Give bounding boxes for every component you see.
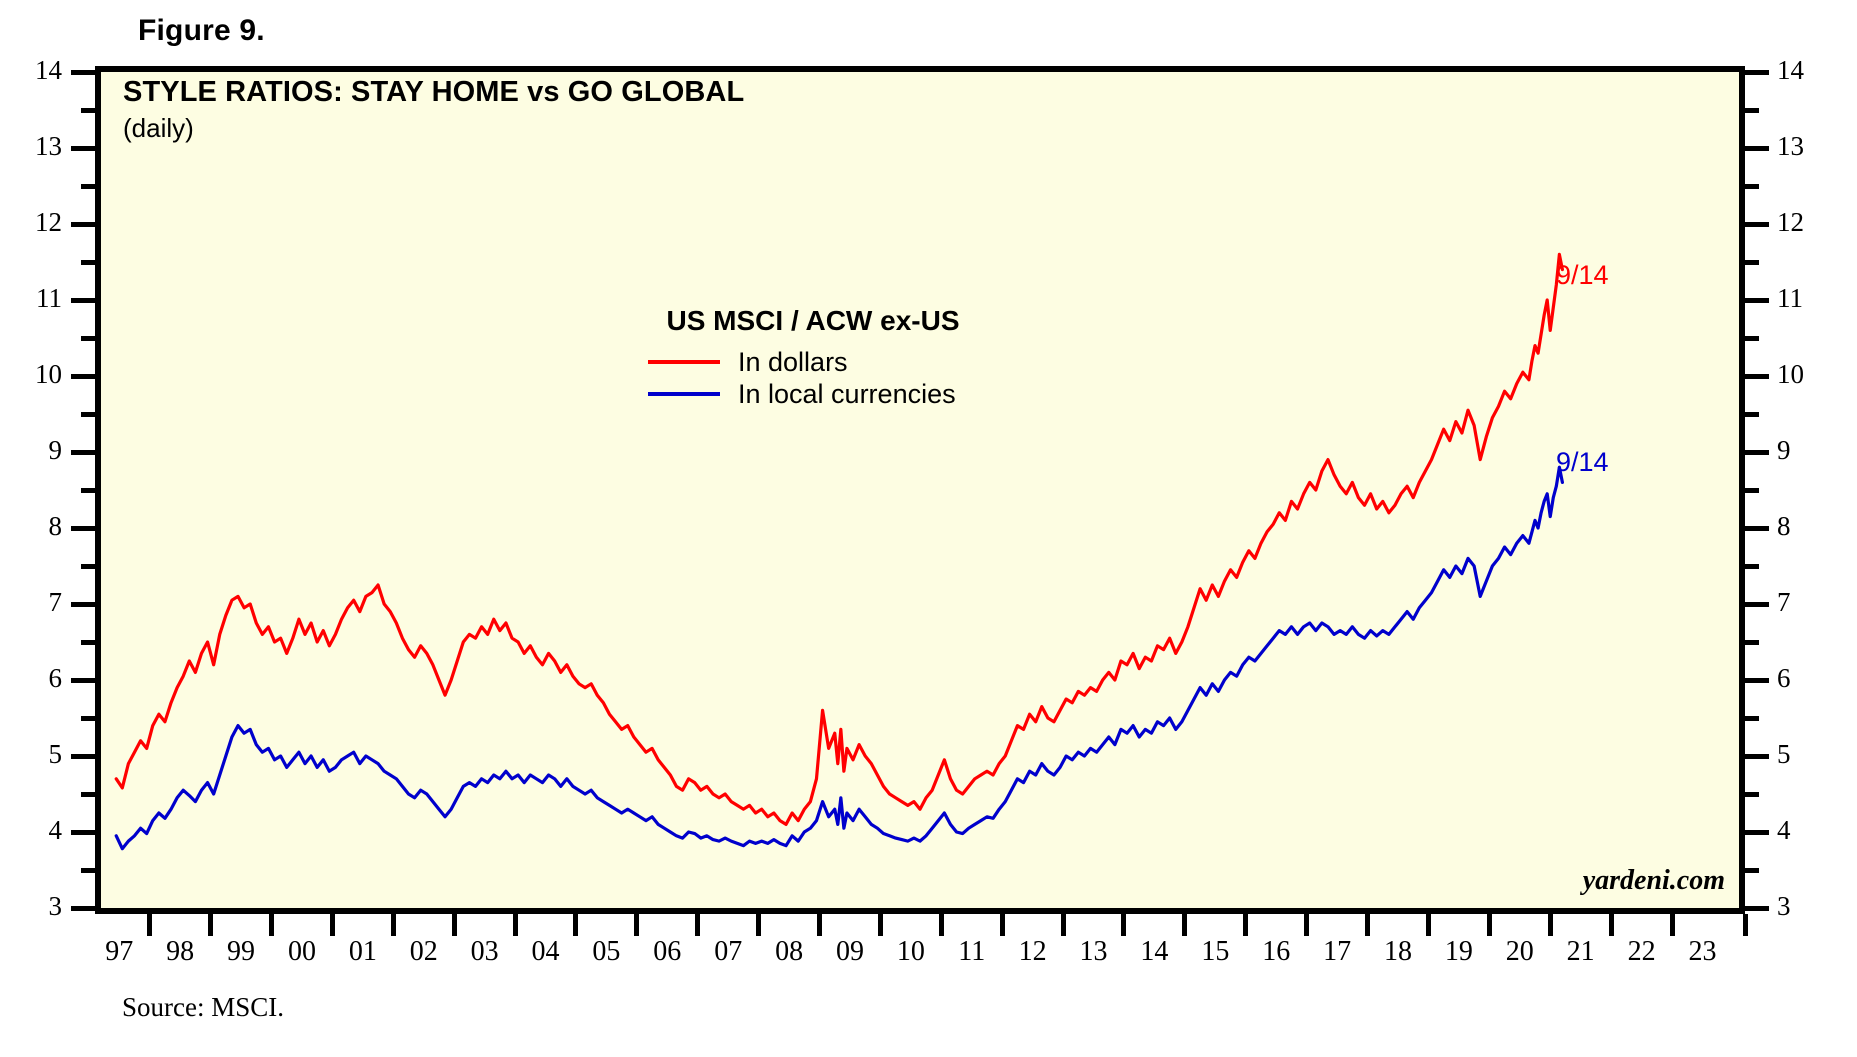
y-tick-major-right (1745, 678, 1769, 683)
watermark: yardeni.com (1583, 865, 1725, 897)
y-axis-label-left: 6 (10, 663, 62, 694)
y-tick-major-left (71, 906, 95, 911)
x-tick (1182, 914, 1187, 936)
x-axis-label-00: 00 (272, 936, 332, 968)
y-tick-major-right (1745, 830, 1769, 835)
y-tick-minor-right (1745, 716, 1759, 721)
y-axis-label-left: 3 (10, 891, 62, 922)
y-tick-minor-right (1745, 108, 1759, 113)
x-tick (939, 914, 944, 936)
y-tick-minor-left (81, 336, 95, 341)
x-axis-label-97: 97 (89, 936, 149, 968)
x-tick (1609, 914, 1614, 936)
x-axis-label-08: 08 (759, 936, 819, 968)
x-axis-label-02: 02 (394, 936, 454, 968)
y-tick-major-right (1745, 222, 1769, 227)
y-tick-major-right (1745, 754, 1769, 759)
legend: US MSCI / ACW ex-US In dollars In local … (648, 305, 978, 410)
x-tick (1121, 914, 1126, 936)
legend-item-in-local-currencies: In local currencies (648, 378, 978, 410)
legend-swatch-blue (648, 392, 720, 396)
x-axis-label-15: 15 (1185, 936, 1245, 968)
y-tick-minor-right (1745, 792, 1759, 797)
x-tick (1061, 914, 1066, 936)
x-axis-label-19: 19 (1429, 936, 1489, 968)
x-axis-label-10: 10 (881, 936, 941, 968)
y-tick-minor-right (1745, 640, 1759, 645)
plot-area (95, 66, 1745, 914)
y-tick-minor-right (1745, 488, 1759, 493)
x-tick (269, 914, 274, 936)
x-tick (208, 914, 213, 936)
y-tick-major-left (71, 222, 95, 227)
y-tick-major-right (1745, 70, 1769, 75)
y-axis-label-right: 11 (1777, 283, 1829, 314)
y-axis-label-right: 14 (1777, 55, 1829, 86)
legend-swatch-red (648, 360, 720, 364)
y-tick-major-left (71, 526, 95, 531)
y-axis-label-left: 14 (10, 55, 62, 86)
x-axis-label-07: 07 (698, 936, 758, 968)
x-tick-end (1743, 914, 1748, 936)
y-tick-minor-left (81, 868, 95, 873)
y-tick-minor-right (1745, 412, 1759, 417)
y-tick-major-right (1745, 298, 1769, 303)
y-tick-major-left (71, 70, 95, 75)
x-axis-label-13: 13 (1064, 936, 1124, 968)
y-axis-label-left: 8 (10, 511, 62, 542)
legend-item-in-dollars: In dollars (648, 346, 978, 378)
y-axis-label-left: 10 (10, 359, 62, 390)
y-tick-major-right (1745, 374, 1769, 379)
y-tick-minor-left (81, 716, 95, 721)
y-axis-label-left: 13 (10, 131, 62, 162)
x-tick (634, 914, 639, 936)
y-tick-major-left (71, 450, 95, 455)
x-tick (391, 914, 396, 936)
y-tick-major-left (71, 678, 95, 683)
red-end-label: 9/14 (1556, 260, 1609, 291)
figure-container: Figure 9. STYLE RATIOS: STAY HOME vs GO … (0, 0, 1857, 1057)
x-axis-label-17: 17 (1307, 936, 1367, 968)
y-axis-label-right: 8 (1777, 511, 1829, 542)
y-tick-minor-left (81, 184, 95, 189)
y-axis-label-left: 4 (10, 815, 62, 846)
x-axis-label-04: 04 (516, 936, 576, 968)
figure-number: Figure 9. (138, 14, 265, 48)
x-axis-label-23: 23 (1672, 936, 1732, 968)
x-tick (1426, 914, 1431, 936)
x-axis-label-16: 16 (1246, 936, 1306, 968)
x-axis-label-12: 12 (1003, 936, 1063, 968)
y-tick-minor-right (1745, 868, 1759, 873)
blue-end-label: 9/14 (1556, 447, 1609, 478)
series-line-in-local-currencies (116, 467, 1562, 849)
y-tick-minor-left (81, 412, 95, 417)
y-tick-minor-left (81, 260, 95, 265)
y-axis-label-right: 5 (1777, 739, 1829, 770)
legend-label-in-local-currencies: In local currencies (738, 379, 956, 410)
y-tick-major-left (71, 146, 95, 151)
y-tick-minor-left (81, 488, 95, 493)
y-tick-major-right (1745, 906, 1769, 911)
y-tick-minor-left (81, 640, 95, 645)
x-tick (1487, 914, 1492, 936)
y-tick-minor-right (1745, 336, 1759, 341)
y-tick-minor-left (81, 792, 95, 797)
y-axis-label-right: 10 (1777, 359, 1829, 390)
x-axis-label-03: 03 (455, 936, 515, 968)
legend-label-in-dollars: In dollars (738, 347, 848, 378)
x-axis-label-01: 01 (333, 936, 393, 968)
x-tick (1365, 914, 1370, 936)
x-axis-label-11: 11 (942, 936, 1002, 968)
x-tick (878, 914, 883, 936)
y-tick-major-right (1745, 526, 1769, 531)
y-axis-label-right: 4 (1777, 815, 1829, 846)
y-tick-major-left (71, 754, 95, 759)
y-axis-label-left: 11 (10, 283, 62, 314)
y-tick-minor-left (81, 108, 95, 113)
y-tick-minor-right (1745, 260, 1759, 265)
y-tick-major-right (1745, 146, 1769, 151)
y-axis-label-right: 7 (1777, 587, 1829, 618)
x-tick (513, 914, 518, 936)
x-axis-label-06: 06 (637, 936, 697, 968)
x-axis-label-05: 05 (576, 936, 636, 968)
chart-subtitle: (daily) (123, 113, 194, 144)
y-axis-label-left: 12 (10, 207, 62, 238)
y-tick-major-left (71, 298, 95, 303)
x-axis-label-99: 99 (211, 936, 271, 968)
y-axis-label-left: 9 (10, 435, 62, 466)
y-tick-major-left (71, 374, 95, 379)
x-tick (1304, 914, 1309, 936)
chart-title: STYLE RATIOS: STAY HOME vs GO GLOBAL (123, 76, 744, 109)
y-tick-major-left (71, 602, 95, 607)
x-axis-label-98: 98 (150, 936, 210, 968)
x-axis-label-18: 18 (1368, 936, 1428, 968)
legend-title: US MSCI / ACW ex-US (648, 305, 978, 337)
y-tick-minor-right (1745, 564, 1759, 569)
y-tick-major-left (71, 830, 95, 835)
y-axis-label-left: 7 (10, 587, 62, 618)
y-axis-label-left: 5 (10, 739, 62, 770)
x-tick (817, 914, 822, 936)
x-axis-label-21: 21 (1551, 936, 1611, 968)
y-axis-label-right: 6 (1777, 663, 1829, 694)
x-tick (695, 914, 700, 936)
x-axis-label-22: 22 (1612, 936, 1672, 968)
y-axis-label-right: 12 (1777, 207, 1829, 238)
x-tick (1243, 914, 1248, 936)
x-tick (1548, 914, 1553, 936)
x-tick (573, 914, 578, 936)
y-tick-major-right (1745, 450, 1769, 455)
x-tick (147, 914, 152, 936)
x-tick (452, 914, 457, 936)
y-tick-minor-left (81, 564, 95, 569)
source-note: Source: MSCI. (122, 992, 284, 1023)
x-axis-label-14: 14 (1124, 936, 1184, 968)
x-tick (756, 914, 761, 936)
y-axis-label-right: 3 (1777, 891, 1829, 922)
x-tick (1670, 914, 1675, 936)
y-tick-major-right (1745, 602, 1769, 607)
x-tick (330, 914, 335, 936)
y-axis-label-right: 13 (1777, 131, 1829, 162)
x-tick (1000, 914, 1005, 936)
y-axis-label-right: 9 (1777, 435, 1829, 466)
x-axis-label-20: 20 (1490, 936, 1550, 968)
x-axis-label-09: 09 (820, 936, 880, 968)
plot-svg (101, 72, 1739, 908)
y-tick-minor-right (1745, 184, 1759, 189)
